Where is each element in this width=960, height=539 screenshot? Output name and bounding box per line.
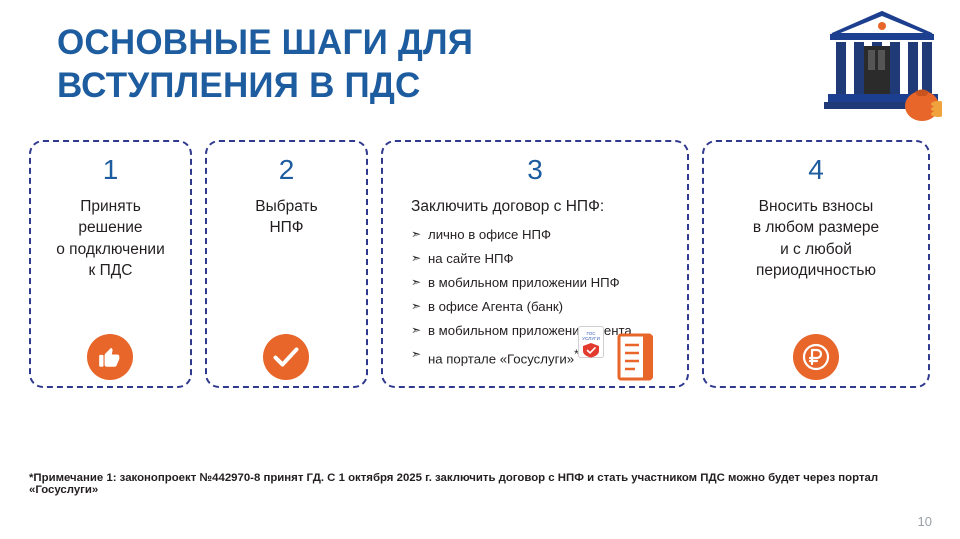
check-mark-icon [263, 334, 309, 380]
thumbs-up-icon [87, 334, 133, 380]
chevron-right-icon: ➣ [411, 347, 421, 362]
chevron-right-icon: ➣ [411, 275, 421, 290]
document-icon [613, 333, 661, 383]
step-number-1: 1 [31, 156, 190, 184]
gosuslugi-badge-icon: ГОС УСЛУГИ [578, 326, 604, 358]
list-item-label: на сайте НПФ [428, 251, 514, 266]
step-text-2: Выбрать НПФ [207, 196, 366, 239]
list-item-label: в офисе Агента (банк) [428, 299, 563, 314]
step-text-1-line-3: о подключении [41, 239, 180, 260]
list-item: ➣лично в офисе НПФ [411, 227, 687, 244]
step-number-4: 4 [704, 156, 928, 184]
step-text-4: Вносить взносы в любом размере и с любой… [704, 196, 928, 282]
step-text-4-line-2: в любом размере [714, 217, 918, 238]
step-text-2-line-2: НПФ [217, 217, 356, 238]
chevron-right-icon: ➣ [411, 251, 421, 266]
ruble-coin-icon [793, 334, 839, 380]
chevron-right-icon: ➣ [411, 299, 421, 314]
svg-text:УСЛУГИ: УСЛУГИ [582, 336, 600, 341]
slide: ОСНОВНЫЕ ШАГИ ДЛЯ ВСТУПЛЕНИЯ В ПДС [0, 0, 960, 539]
page-number: 10 [918, 514, 932, 529]
step-text-1: Принять решение о подключении к ПДС [31, 196, 190, 282]
chevron-right-icon: ➣ [411, 227, 421, 242]
step-text-4-line-4: периодичностью [714, 260, 918, 281]
step-text-1-line-4: к ПДС [41, 260, 180, 281]
list-item: ➣на сайте НПФ [411, 251, 687, 268]
step-text-4-line-3: и с любой [714, 239, 918, 260]
step-number-2: 2 [207, 156, 366, 184]
page-title-line-2: ВСТУПЛЕНИЯ В ПДС [57, 65, 737, 108]
step-text-1-line-1: Принять [41, 196, 180, 217]
bank-building-icon [772, 6, 942, 126]
list-item-label: в мобильном приложении НПФ [428, 275, 620, 290]
chevron-right-icon: ➣ [411, 323, 421, 338]
step-text-1-line-2: решение [41, 217, 180, 238]
list-item: ➣в офисе Агента (банк) [411, 299, 687, 316]
step-text-2-line-1: Выбрать [217, 196, 356, 217]
page-title: ОСНОВНЫЕ ШАГИ ДЛЯ ВСТУПЛЕНИЯ В ПДС [57, 22, 737, 107]
footnote-text: *Примечание 1: законопроект №442970-8 пр… [29, 472, 929, 496]
list-item-label: на портале «Госуслуги» [428, 352, 574, 367]
step-number-3: 3 [383, 156, 687, 184]
list-item-label: лично в офисе НПФ [428, 227, 551, 242]
list-item: ➣в мобильном приложении НПФ [411, 275, 687, 292]
step-heading-3: Заключить договор с НПФ: [383, 196, 687, 217]
page-title-line-1: ОСНОВНЫЕ ШАГИ ДЛЯ [57, 22, 737, 65]
step-text-4-line-1: Вносить взносы [714, 196, 918, 217]
